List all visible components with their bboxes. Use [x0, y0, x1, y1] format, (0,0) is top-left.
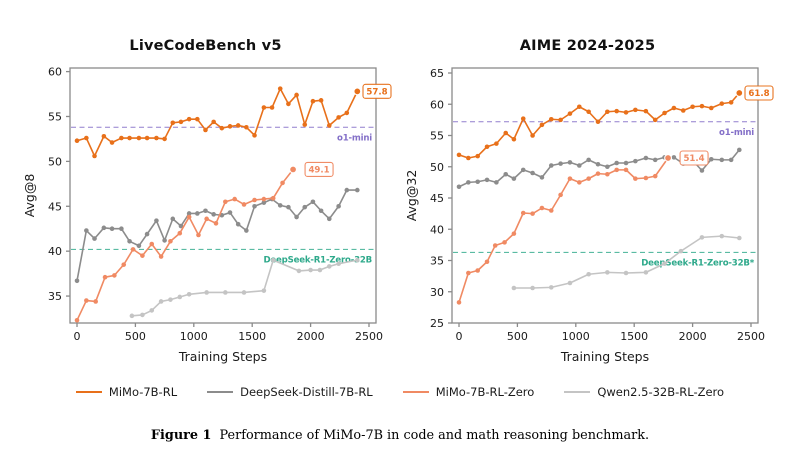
data-point [540, 123, 545, 128]
data-point [149, 242, 154, 247]
chart-panel-aime: AIME 2024-2025 2530354045505560650500100… [400, 28, 775, 373]
data-point [653, 118, 658, 123]
data-point [568, 176, 573, 181]
y-tick-label: 65 [430, 67, 444, 80]
data-point [530, 286, 535, 291]
legend-swatch-mimo-7b-rl-zero [403, 391, 429, 393]
data-point [102, 134, 107, 139]
data-point [709, 157, 714, 162]
data-point [318, 268, 323, 273]
data-point [145, 232, 150, 237]
data-point [475, 154, 480, 159]
data-point [294, 93, 299, 98]
x-tick-label: 500 [507, 330, 528, 343]
data-point [549, 117, 554, 122]
data-point [614, 168, 619, 173]
data-point [549, 208, 554, 213]
data-point [187, 292, 192, 297]
data-point [327, 217, 332, 222]
legend-swatch-deepseek-distill-7b-rl [207, 391, 233, 393]
data-point [605, 270, 610, 275]
data-point [494, 141, 499, 146]
data-point [262, 105, 267, 110]
x-tick-label: 1000 [180, 330, 208, 343]
data-point [530, 171, 535, 176]
data-point [92, 236, 97, 241]
data-point [168, 239, 173, 244]
y-axis-title: Avg@8 [22, 174, 37, 218]
legend-item-mimo-7b-rl-zero: MiMo-7B-RL-Zero [403, 385, 535, 399]
y-tick-label: 35 [48, 290, 62, 303]
data-point [145, 136, 150, 141]
data-point [355, 188, 360, 193]
legend-label-qwen25-32b-rl-zero: Qwen2.5-32B-RL-Zero [597, 385, 724, 399]
data-point [242, 290, 247, 295]
data-point [624, 161, 629, 166]
data-point [271, 258, 276, 263]
y-tick-label: 55 [48, 110, 62, 123]
legend-item-deepseek-distill-7b-rl: DeepSeek-Distill-7B-RL [207, 385, 373, 399]
data-point [596, 171, 601, 176]
data-point [605, 172, 610, 177]
data-point [252, 204, 257, 209]
series-line [132, 260, 357, 316]
data-point [294, 215, 299, 220]
data-point [568, 111, 573, 116]
data-point [232, 197, 237, 202]
data-point [170, 120, 175, 125]
data-point [179, 120, 184, 125]
legend-label-mimo-7b-rl-zero: MiMo-7B-RL-Zero [436, 385, 535, 399]
data-point [558, 118, 563, 123]
data-point [154, 218, 159, 223]
data-point [653, 174, 658, 179]
x-axis-title: Training Steps [178, 349, 267, 364]
data-point [586, 109, 591, 114]
y-tick-label: 55 [430, 130, 444, 143]
data-point [577, 163, 582, 168]
data-point [204, 217, 209, 222]
data-point [211, 120, 216, 125]
data-point [103, 275, 108, 280]
data-point [170, 217, 175, 222]
legend-swatch-qwen25-32b-rl-zero [564, 391, 590, 393]
data-point [110, 140, 115, 145]
data-point [162, 137, 167, 142]
legend-label-deepseek-distill-7b-rl: DeepSeek-Distill-7B-RL [240, 385, 373, 399]
data-point [457, 153, 462, 158]
data-point [297, 269, 302, 274]
y-tick-label: 25 [430, 317, 444, 330]
x-tick-label: 1500 [620, 330, 648, 343]
data-point [84, 298, 89, 303]
data-point [195, 211, 200, 216]
x-tick-label: 2500 [737, 330, 765, 343]
data-point [568, 160, 573, 165]
data-point [75, 138, 80, 143]
data-point [110, 226, 115, 231]
x-tick-label: 2000 [297, 330, 325, 343]
data-point [672, 106, 677, 111]
data-point [503, 172, 508, 177]
data-point [558, 193, 563, 198]
data-point [709, 106, 714, 111]
data-point [466, 180, 471, 185]
x-axis-title: Training Steps [560, 349, 649, 364]
annotation-callout-0: 57.8 [354, 84, 391, 98]
y-tick-label: 35 [430, 255, 444, 268]
data-point [252, 133, 257, 138]
data-point [84, 136, 89, 141]
data-point [327, 123, 332, 128]
data-point [302, 122, 307, 127]
data-point [679, 249, 684, 254]
data-point [187, 215, 192, 220]
reference-line-label-0: o1-mini [719, 128, 754, 138]
x-tick-label: 1500 [238, 330, 266, 343]
data-point [204, 290, 209, 295]
data-point [644, 270, 649, 275]
data-point [586, 272, 591, 277]
data-point [130, 314, 135, 319]
data-point [633, 176, 638, 181]
annotation-callout-0: 61.8 [736, 86, 773, 100]
data-point [271, 196, 276, 201]
data-point [605, 109, 610, 114]
annotation-point-marker [736, 90, 743, 97]
y-tick-label: 30 [430, 286, 444, 299]
data-point [302, 205, 307, 210]
series-mimo-7b-rl-zero [457, 156, 671, 305]
data-point [700, 168, 705, 173]
data-point [137, 136, 142, 141]
data-point [549, 163, 554, 168]
data-point [127, 239, 132, 244]
data-point [558, 161, 563, 166]
data-point [84, 228, 89, 233]
data-point [540, 175, 545, 180]
data-point [159, 299, 164, 304]
series-mimo-7b-rl [75, 86, 360, 158]
data-point [485, 178, 490, 183]
data-point [177, 295, 182, 300]
y-tick-label: 40 [48, 245, 62, 258]
annotation-point-marker [290, 166, 297, 173]
data-point [327, 264, 332, 269]
y-tick-label: 50 [430, 161, 444, 174]
data-point [220, 126, 225, 131]
data-point [540, 206, 545, 211]
data-point [187, 117, 192, 122]
data-point [521, 116, 526, 121]
data-point [102, 226, 107, 231]
data-point [336, 204, 341, 209]
data-point [614, 161, 619, 166]
annotation-point-marker [354, 88, 361, 95]
data-point [137, 243, 142, 248]
data-point [244, 125, 249, 130]
data-point [131, 247, 136, 252]
x-tick-label: 2000 [679, 330, 707, 343]
data-point [223, 199, 228, 204]
data-point [159, 254, 164, 259]
data-point [605, 164, 610, 169]
data-point [633, 108, 638, 113]
data-point [662, 111, 667, 116]
data-point [345, 188, 350, 193]
data-point [700, 104, 705, 109]
annotation-value: 51.4 [683, 154, 704, 164]
data-point [549, 285, 554, 290]
data-point [236, 222, 241, 227]
data-point [119, 226, 124, 231]
plot-frame [70, 68, 376, 323]
data-point [719, 158, 724, 163]
reference-line-label-0: o1-mini [337, 133, 372, 143]
data-point [319, 208, 324, 213]
annotation-callout-1: 51.4 [665, 151, 708, 165]
data-point [457, 184, 462, 189]
figure-legend: MiMo-7B-RL DeepSeek-Distill-7B-RL MiMo-7… [0, 380, 800, 404]
data-point [177, 231, 182, 236]
data-point [278, 203, 283, 208]
data-point [521, 168, 526, 173]
data-point [196, 233, 201, 238]
data-point [162, 238, 167, 243]
data-point [127, 136, 132, 141]
series-mimo-7b-rl [457, 91, 742, 161]
x-tick-label: 0 [74, 330, 81, 343]
figure-caption: Figure 1 Performance of MiMo-7B in code … [0, 428, 800, 443]
data-point [700, 235, 705, 240]
data-point [586, 158, 591, 163]
data-point [336, 261, 341, 266]
data-point [653, 158, 658, 163]
y-axis-title: Avg@32 [404, 170, 419, 222]
data-point [624, 271, 629, 276]
annotation-value: 57.8 [366, 88, 387, 98]
data-point [475, 268, 480, 273]
series-deepseek-distill-7b-rl [75, 188, 360, 283]
y-tick-label: 60 [430, 98, 444, 111]
data-point [596, 162, 601, 167]
data-point [228, 124, 233, 129]
data-point [203, 128, 208, 133]
annotation-callout-1: 49.1 [290, 162, 333, 176]
data-point [244, 228, 249, 233]
data-point [154, 136, 159, 141]
x-tick-label: 0 [456, 330, 463, 343]
data-point [494, 180, 499, 185]
data-point [475, 179, 480, 184]
data-point [280, 181, 285, 186]
data-point [690, 104, 695, 109]
data-point [270, 105, 275, 110]
x-tick-label: 500 [125, 330, 146, 343]
legend-swatch-mimo-7b-rl [76, 391, 102, 393]
series-line [459, 93, 739, 158]
data-point [311, 199, 316, 204]
data-point [92, 154, 97, 159]
data-point [624, 110, 629, 115]
data-point [512, 231, 517, 236]
data-point [262, 197, 267, 202]
y-tick-label: 50 [48, 155, 62, 168]
data-point [112, 273, 117, 278]
data-point [512, 286, 517, 291]
data-point [719, 101, 724, 106]
data-point [236, 123, 241, 128]
figure-1: LiveCodeBench v5 35404550556005001000150… [0, 0, 800, 467]
annotation-value: 61.8 [748, 89, 769, 99]
series-mimo-7b-rl-zero [75, 167, 296, 322]
chart-panel-livecodebench: LiveCodeBench v5 35404550556005001000150… [18, 28, 393, 373]
data-point [644, 156, 649, 161]
data-point [596, 119, 601, 124]
data-point [119, 136, 124, 141]
data-point [729, 158, 734, 163]
y-tick-label: 40 [430, 223, 444, 236]
x-tick-label: 1000 [562, 330, 590, 343]
data-point [662, 261, 667, 266]
y-tick-label: 45 [430, 192, 444, 205]
data-point [485, 144, 490, 149]
data-point [672, 155, 677, 160]
plot-area-left: 35404550556005001000150020002500Training… [18, 28, 393, 373]
data-point [140, 313, 145, 318]
data-point [485, 259, 490, 264]
data-point [75, 279, 80, 284]
data-point [345, 111, 350, 116]
legend-item-qwen25-32b-rl-zero: Qwen2.5-32B-RL-Zero [564, 385, 724, 399]
data-point [503, 131, 508, 136]
data-point [75, 318, 80, 323]
data-point [466, 271, 471, 276]
data-point [681, 108, 686, 113]
legend-item-mimo-7b-rl: MiMo-7B-RL [76, 385, 177, 399]
data-point [719, 234, 724, 239]
data-point [512, 137, 517, 142]
data-point [530, 133, 535, 138]
data-point [93, 299, 98, 304]
data-point [466, 156, 471, 161]
data-point [121, 262, 126, 267]
data-point [355, 258, 360, 263]
data-point [319, 98, 324, 103]
data-point [521, 211, 526, 216]
data-point [223, 290, 228, 295]
data-point [502, 240, 507, 245]
annotation-value: 49.1 [308, 166, 329, 176]
data-point [577, 180, 582, 185]
data-point [286, 205, 291, 210]
data-point [624, 168, 629, 173]
data-point [644, 176, 649, 181]
series-qwen2-5-32b-rl-zero [130, 258, 360, 318]
data-point [195, 117, 200, 122]
caption-text: Performance of MiMo-7B in code and math … [220, 428, 650, 443]
data-point [336, 115, 341, 120]
data-point [262, 288, 267, 293]
data-point [140, 253, 145, 258]
data-point [228, 210, 233, 215]
data-point [149, 308, 154, 313]
plot-area-right: 25303540455055606505001000150020002500Tr… [400, 28, 775, 373]
data-point [168, 297, 173, 302]
data-point [737, 148, 742, 153]
data-point [644, 109, 649, 114]
data-point [286, 102, 291, 107]
data-point [242, 202, 247, 207]
data-point [568, 281, 573, 286]
y-tick-label: 60 [48, 66, 62, 79]
data-point [214, 221, 219, 226]
data-point [577, 104, 582, 109]
caption-label: Figure 1 [151, 428, 211, 443]
y-tick-label: 45 [48, 200, 62, 213]
data-point [203, 208, 208, 213]
series-line [77, 89, 357, 156]
series-line [77, 169, 293, 320]
data-point [493, 243, 498, 248]
data-point [308, 268, 313, 273]
data-point [586, 176, 591, 181]
data-point [633, 159, 638, 164]
data-point [252, 198, 257, 203]
data-point [737, 236, 742, 241]
annotation-point-marker [665, 155, 672, 162]
data-point [614, 109, 619, 114]
data-point [512, 176, 517, 181]
data-point [729, 100, 734, 105]
legend-label-mimo-7b-rl: MiMo-7B-RL [109, 385, 177, 399]
data-point [530, 211, 535, 216]
data-point [211, 212, 216, 217]
x-tick-label: 2500 [355, 330, 383, 343]
series-line [77, 190, 357, 281]
data-point [278, 86, 283, 91]
data-point [457, 300, 462, 305]
data-point [311, 99, 316, 104]
